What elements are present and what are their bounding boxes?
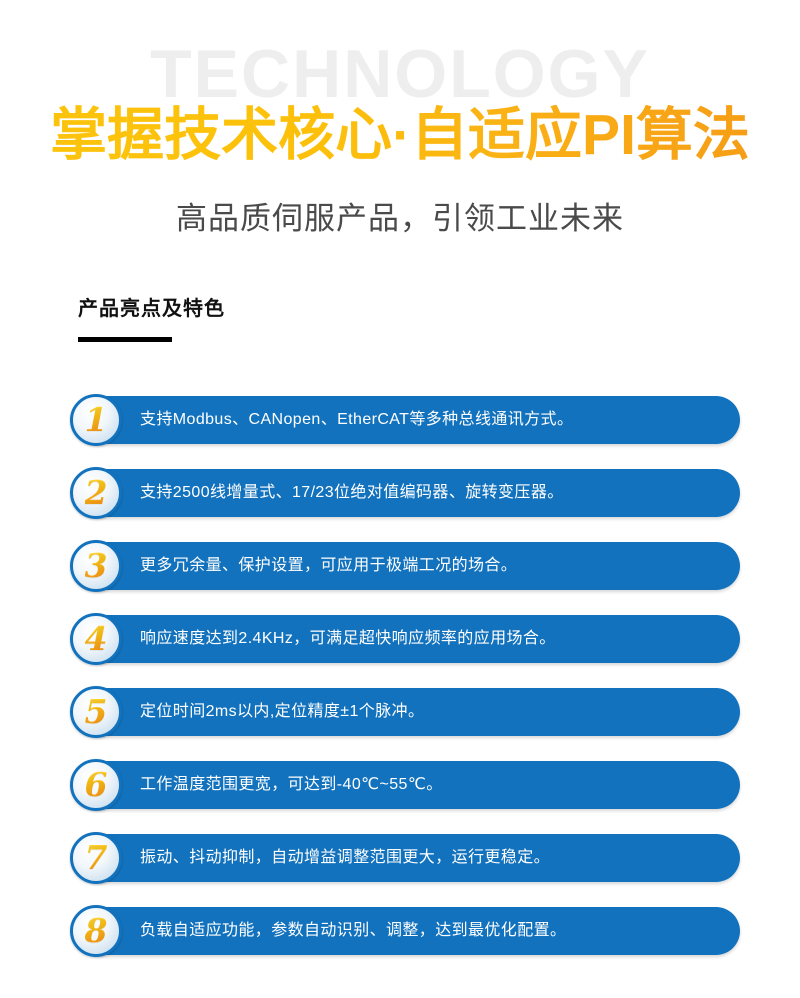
page-subtitle: 高品质伺服产品，引领工业未来 [0,200,800,239]
feature-text: 响应速度达到2.4KHz，可满足超快响应频率的应用场合。 [140,615,556,663]
feature-number: 6 [85,768,108,801]
feature-pill[interactable]: 响应速度达到2.4KHz，可满足超快响应频率的应用场合。 [78,615,740,663]
hero-banner: TECHNOLOGY 掌握技术核心·自适应PI算法 高品质伺服产品，引领工业未来 [0,0,800,262]
feature-text: 负载自适应功能，参数自动识别、调整，达到最优化配置。 [140,907,566,955]
feature-number: 3 [85,549,108,582]
feature-number-badge: 8 [70,905,122,957]
list-item[interactable]: 负载自适应功能，参数自动识别、调整，达到最优化配置。8 [0,907,800,955]
product-highlights-page: TECHNOLOGY 掌握技术核心·自适应PI算法 高品质伺服产品，引领工业未来… [0,0,800,998]
list-item[interactable]: 更多冗余量、保护设置，可应用于极端工况的场合。3 [0,542,800,590]
section-header: 产品亮点及特色 [78,297,225,342]
feature-number-badge: 4 [70,613,122,665]
feature-number-badge: 6 [70,759,122,811]
feature-number: 8 [85,914,108,947]
feature-pill[interactable]: 负载自适应功能，参数自动识别、调整，达到最优化配置。 [78,907,740,955]
list-item[interactable]: 响应速度达到2.4KHz，可满足超快响应频率的应用场合。4 [0,615,800,663]
feature-number-badge: 7 [70,832,122,884]
feature-pill[interactable]: 更多冗余量、保护设置，可应用于极端工况的场合。 [78,542,740,590]
feature-number-badge: 3 [70,540,122,592]
section-underline-rule [78,337,172,342]
feature-text: 支持Modbus、CANopen、EtherCAT等多种总线通讯方式。 [140,396,573,444]
feature-number-badge: 5 [70,686,122,738]
feature-text: 工作温度范围更宽，可达到-40℃~55℃。 [140,761,443,809]
feature-number: 2 [85,476,108,509]
list-item[interactable]: 工作温度范围更宽，可达到-40℃~55℃。6 [0,761,800,809]
feature-number-badge: 1 [70,394,122,446]
technology-watermark-text: TECHNOLOGY [0,40,800,108]
feature-pill[interactable]: 工作温度范围更宽，可达到-40℃~55℃。 [78,761,740,809]
feature-pill[interactable]: 支持Modbus、CANopen、EtherCAT等多种总线通讯方式。 [78,396,740,444]
page-title: 掌握技术核心·自适应PI算法 [0,105,800,167]
feature-number: 1 [85,403,108,436]
section-title: 产品亮点及特色 [78,297,225,321]
feature-text: 支持2500线增量式、17/23位绝对值编码器、旋转变压器。 [140,469,564,517]
feature-pill[interactable]: 支持2500线增量式、17/23位绝对值编码器、旋转变压器。 [78,469,740,517]
feature-pill[interactable]: 振动、抖动抑制，自动增益调整范围更大，运行更稳定。 [78,834,740,882]
feature-text: 更多冗余量、保护设置，可应用于极端工况的场合。 [140,542,517,590]
list-item[interactable]: 支持2500线增量式、17/23位绝对值编码器、旋转变压器。2 [0,469,800,517]
feature-number: 4 [85,622,108,655]
list-item[interactable]: 定位时间2ms以内,定位精度±1个脉冲。5 [0,688,800,736]
feature-pill[interactable]: 定位时间2ms以内,定位精度±1个脉冲。 [78,688,740,736]
feature-text: 定位时间2ms以内,定位精度±1个脉冲。 [140,688,424,736]
list-item[interactable]: 振动、抖动抑制，自动增益调整范围更大，运行更稳定。7 [0,834,800,882]
feature-number: 5 [85,695,108,728]
list-item[interactable]: 支持Modbus、CANopen、EtherCAT等多种总线通讯方式。1 [0,396,800,444]
feature-number: 7 [85,841,108,874]
feature-number-badge: 2 [70,467,122,519]
feature-text: 振动、抖动抑制，自动增益调整范围更大，运行更稳定。 [140,834,550,882]
feature-list: 支持Modbus、CANopen、EtherCAT等多种总线通讯方式。1支持25… [0,396,800,980]
